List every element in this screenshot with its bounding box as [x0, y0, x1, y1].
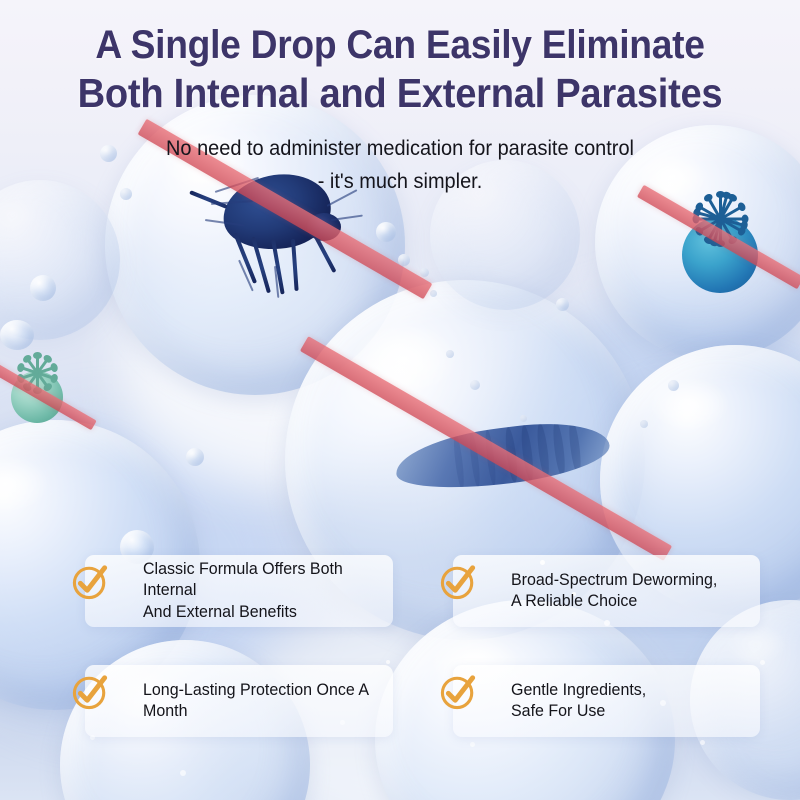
water-droplet: [668, 380, 679, 391]
feature-card: Long-Lasting Protection Once A Month: [85, 665, 393, 737]
feature-card: Classic Formula Offers Both Internal And…: [85, 555, 393, 627]
feature-text-line-2: Month: [143, 701, 369, 722]
water-droplet: [376, 222, 396, 242]
mite-bristle: [331, 215, 363, 221]
page-subtitle: No need to administer medication for par…: [20, 133, 780, 198]
feature-text: Long-Lasting Protection Once A Month: [143, 680, 369, 722]
feature-item-2: Broad-Spectrum Deworming, A Reliable Cho…: [428, 555, 761, 627]
water-droplet: [420, 268, 429, 277]
parasite-treatment-poster: A Single Drop Can Easily Eliminate Both …: [0, 0, 800, 800]
check-circle-icon: [68, 560, 112, 604]
feature-item-1: Classic Formula Offers Both Internal And…: [60, 555, 393, 627]
feature-text-line-1: Gentle Ingredients,: [511, 680, 646, 701]
feature-text-line-2: Safe For Use: [511, 701, 646, 722]
feature-row: Classic Formula Offers Both Internal And…: [60, 555, 760, 627]
worm-segment: [567, 419, 583, 476]
check-circle-icon: [436, 560, 480, 604]
feature-text: Gentle Ingredients, Safe For Use: [511, 680, 646, 722]
feature-text: Broad-Spectrum Deworming, A Reliable Cho…: [511, 570, 717, 612]
feature-card: Gentle Ingredients, Safe For Use: [453, 665, 761, 737]
feature-item-3: Long-Lasting Protection Once A Month: [60, 665, 393, 737]
water-droplet: [446, 350, 454, 358]
feature-text-line-1: Classic Formula Offers Both Internal: [143, 559, 371, 601]
water-droplet: [430, 290, 437, 297]
worm-segment: [551, 421, 567, 478]
feature-row: Long-Lasting Protection Once A Month Gen…: [60, 665, 760, 737]
feature-text-line-2: A Reliable Choice: [511, 591, 717, 612]
check-circle-icon: [436, 670, 480, 714]
check-circle-icon: [68, 670, 112, 714]
subhead-line-2: - it's much simpler.: [20, 166, 780, 199]
feature-text-line-2: And External Benefits: [143, 602, 371, 623]
water-droplet: [186, 448, 204, 466]
water-speck: [760, 660, 765, 665]
subhead-line-1: No need to administer medication for par…: [166, 137, 634, 160]
water-droplet: [640, 420, 648, 428]
water-bubble: [0, 180, 120, 340]
water-droplet: [470, 380, 480, 390]
mite-leg: [291, 239, 299, 291]
feature-text-line-1: Long-Lasting Protection Once A: [143, 680, 369, 701]
water-droplet: [0, 320, 34, 350]
feature-item-4: Gentle Ingredients, Safe For Use: [428, 665, 761, 737]
feature-card: Broad-Spectrum Deworming, A Reliable Cho…: [453, 555, 761, 627]
headline-line-1: A Single Drop Can Easily Eliminate: [95, 23, 704, 67]
water-droplet: [30, 275, 56, 301]
headline-line-2: Both Internal and External Parasites: [28, 69, 772, 117]
feature-text-line-1: Broad-Spectrum Deworming,: [511, 570, 717, 591]
water-droplet: [556, 298, 569, 311]
page-title: A Single Drop Can Easily Eliminate Both …: [28, 22, 772, 118]
feature-text: Classic Formula Offers Both Internal And…: [143, 559, 371, 622]
feature-list: Classic Formula Offers Both Internal And…: [60, 555, 760, 775]
